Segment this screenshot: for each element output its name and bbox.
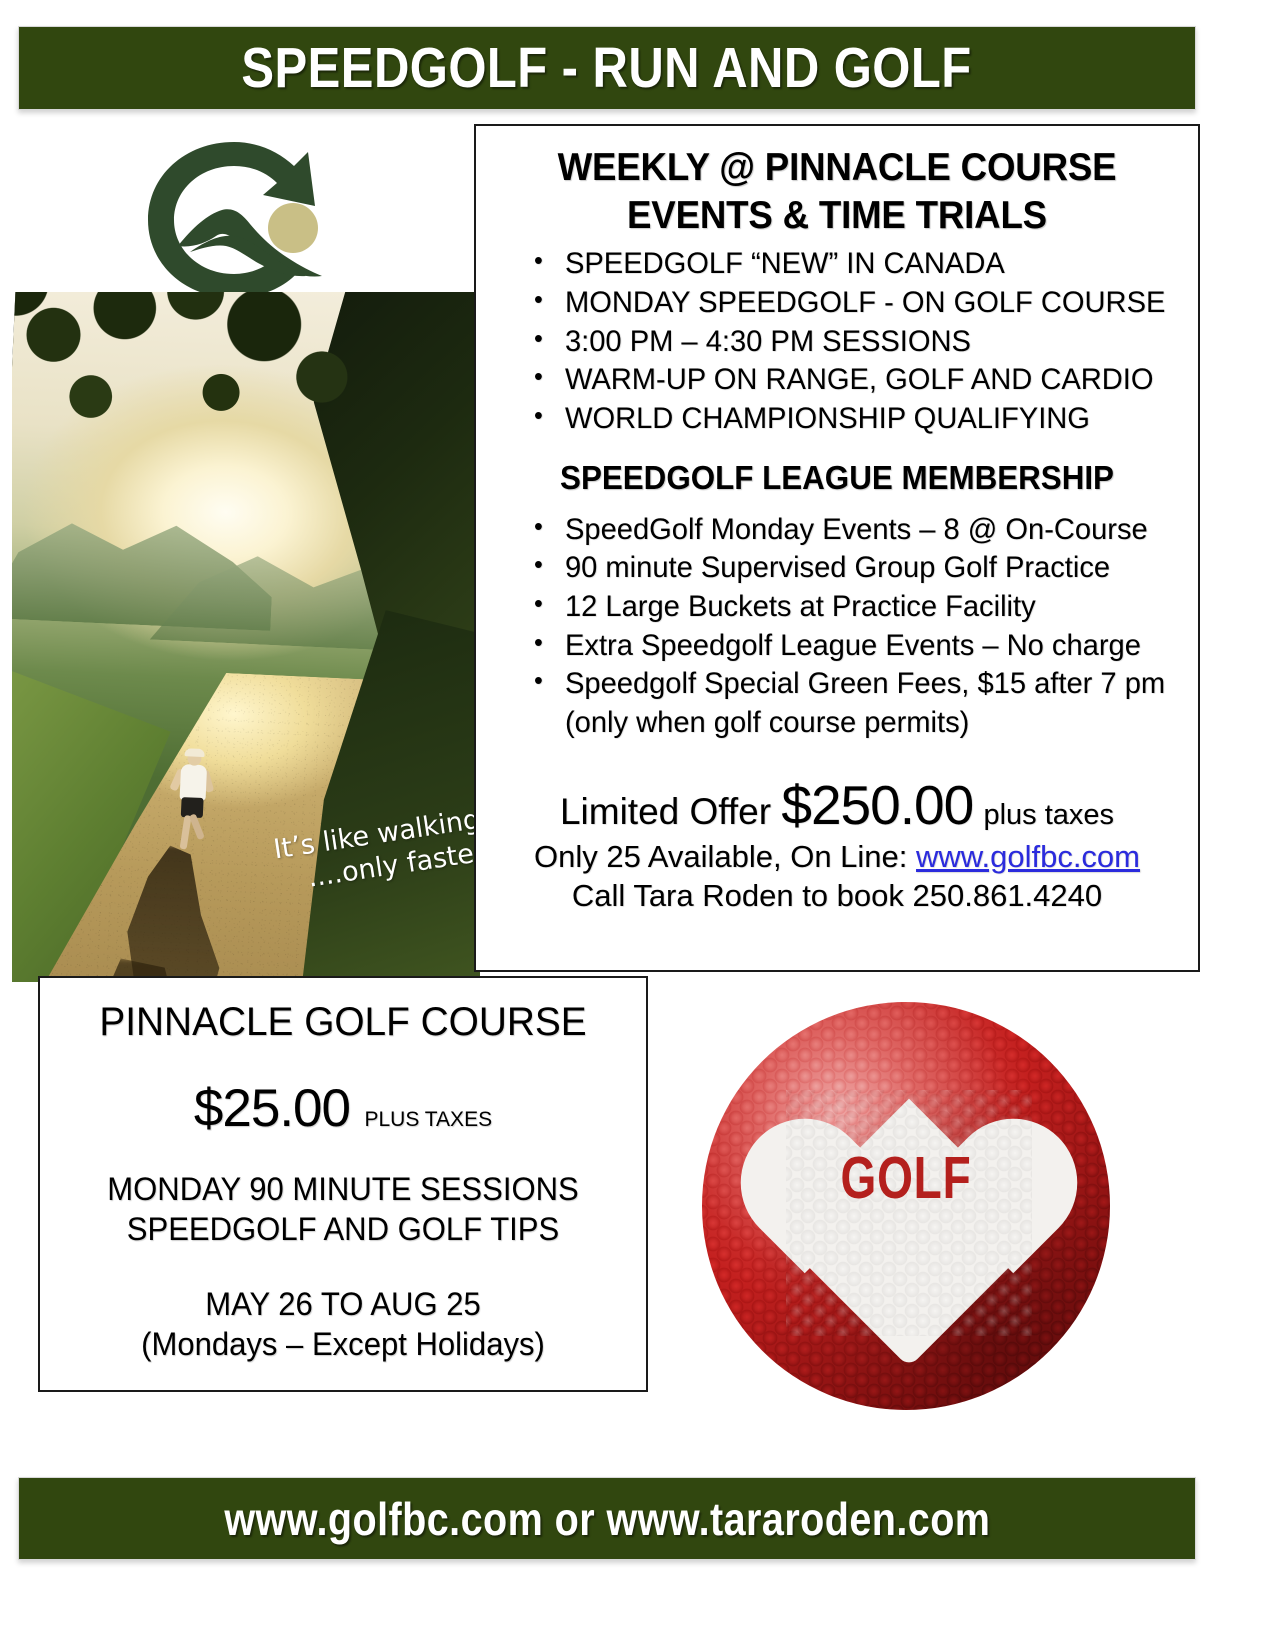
main-panel-title-line1: WEEKLY @ PINNACLE COURSE: [507, 144, 1167, 192]
header-banner: SPEEDGOLF - RUN AND GOLF: [18, 26, 1196, 110]
footer-websites[interactable]: www.golfbc.com or www.tararoden.com: [224, 1492, 990, 1546]
weekly-events-panel: WEEKLY @ PINNACLE COURSE EVENTS & TIME T…: [474, 124, 1200, 972]
pinnacle-dates-line2: (Mondays – Except Holidays): [49, 1324, 637, 1364]
main-panel-title: WEEKLY @ PINNACLE COURSE EVENTS & TIME T…: [507, 144, 1167, 239]
list-item: 12 Large Buckets at Practice Facility: [532, 588, 1168, 627]
offer-tax-note: plus taxes: [983, 799, 1114, 831]
membership-bullet-list: SpeedGolf Monday Events – 8 @ On-Course …: [486, 511, 1188, 743]
offer-label: Limited Offer: [560, 791, 771, 832]
list-item: 90 minute Supervised Group Golf Practice: [532, 549, 1168, 588]
runner-photo: [12, 292, 480, 982]
list-item: Speedgolf Special Green Fees, $15 after …: [532, 665, 1168, 742]
list-item: WORLD CHAMPIONSHIP QUALIFYING: [532, 400, 1168, 439]
pinnacle-price: $25.00: [194, 1079, 350, 1138]
pinnacle-dates: MAY 26 TO AUG 25 (Mondays – Except Holid…: [49, 1284, 637, 1365]
pinnacle-body-line2: SPEEDGOLF AND GOLF TIPS: [49, 1209, 637, 1249]
golfbc-link[interactable]: www.golfbc.com: [916, 839, 1140, 874]
list-item: MONDAY SPEEDGOLF - ON GOLF COURSE: [532, 284, 1168, 323]
list-item: SpeedGolf Monday Events – 8 @ On-Course: [532, 511, 1168, 550]
list-item: WARM-UP ON RANGE, GOLF AND CARDIO: [532, 361, 1168, 400]
pinnacle-title: PINNACLE GOLF COURSE: [49, 1000, 637, 1045]
pinnacle-price-row: $25.00 PLUS TAXES: [40, 1078, 646, 1139]
golf-ball-word: GOLF: [747, 1144, 1065, 1212]
main-panel-title-line2: EVENTS & TIME TRIALS: [507, 192, 1167, 240]
membership-section-title: SPEEDGOLF LEAGUE MEMBERSHIP: [504, 459, 1171, 497]
golfbc-logo-icon: [130, 136, 338, 304]
offer-price: $250.00: [781, 774, 973, 836]
pinnacle-body-line1: MONDAY 90 MINUTE SESSIONS: [49, 1169, 637, 1209]
call-to-book-line: Call Tara Roden to book 250.861.4240: [486, 876, 1188, 916]
pinnacle-course-panel: PINNACLE GOLF COURSE $25.00 PLUS TAXES M…: [38, 976, 648, 1392]
footer-banner: www.golfbc.com or www.tararoden.com: [18, 1477, 1196, 1560]
pinnacle-dates-line1: MAY 26 TO AUG 25: [49, 1284, 637, 1324]
golf-ball-icon: GOLF: [702, 1002, 1110, 1410]
golf-ball-graphic: GOLF: [702, 1002, 1110, 1410]
list-item: Extra Speedgolf League Events – No charg…: [532, 627, 1168, 666]
page-title: SPEEDGOLF - RUN AND GOLF: [242, 35, 972, 101]
availability-prefix: Only 25 Available, On Line:: [534, 839, 907, 874]
events-bullet-list: SPEEDGOLF “NEW” IN CANADA MONDAY SPEEDGO…: [486, 245, 1188, 438]
heart-icon: [786, 1090, 1032, 1336]
limited-offer-line: Limited Offer $250.00 plus taxes: [486, 773, 1188, 837]
pinnacle-body: MONDAY 90 MINUTE SESSIONS SPEEDGOLF AND …: [49, 1169, 637, 1250]
list-item: SPEEDGOLF “NEW” IN CANADA: [532, 245, 1168, 284]
pinnacle-price-note: PLUS TAXES: [364, 1108, 492, 1131]
list-item: 3:00 PM – 4:30 PM SESSIONS: [532, 323, 1168, 362]
availability-line: Only 25 Available, On Line: www.golfbc.c…: [486, 837, 1188, 877]
